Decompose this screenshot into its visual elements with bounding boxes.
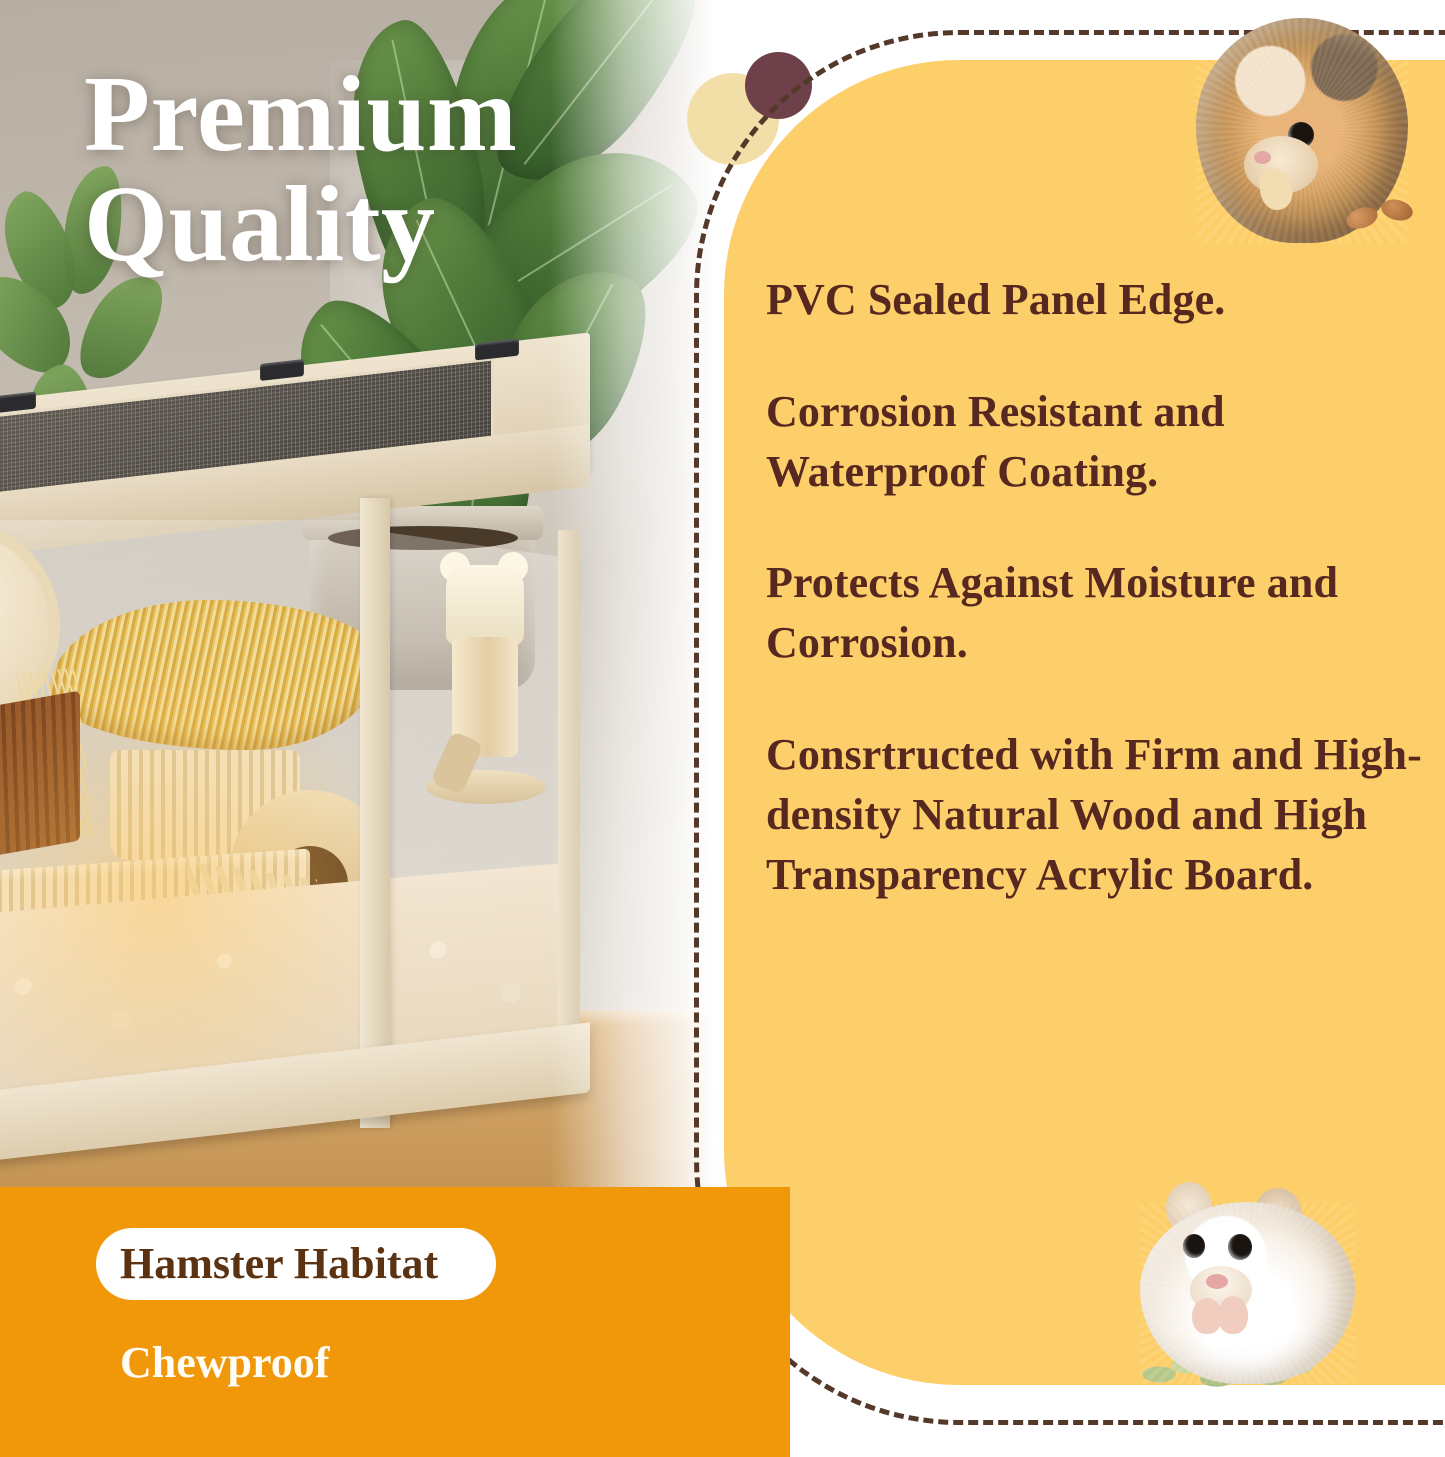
- feature-item: PVC Sealed Panel Edge.: [766, 270, 1426, 330]
- footer-subtitle: Chewproof: [120, 1336, 640, 1390]
- badge-label: Hamster Habitat: [120, 1237, 640, 1291]
- hamster-bottom-icon: [1140, 1186, 1355, 1401]
- infographic-root: Premium Quality PVC Sealed Panel Edge. C…: [0, 0, 1445, 1457]
- page-title: Premium Quality: [84, 60, 684, 280]
- feature-item: Consrtructed with Firm and High-density …: [766, 725, 1426, 904]
- decor-circle-maroon-icon: [745, 52, 812, 119]
- feature-list: PVC Sealed Panel Edge. Corrosion Resista…: [766, 270, 1426, 905]
- feature-item: Corrosion Resistant and Waterproof Coati…: [766, 382, 1426, 502]
- hamster-top-icon: [1196, 18, 1408, 243]
- feature-item: Protects Against Moisture and Corrosion.: [766, 553, 1426, 673]
- cage-post-middle: [360, 498, 390, 1128]
- water-bottle: [430, 565, 535, 795]
- hamster-cage: [0, 370, 630, 1160]
